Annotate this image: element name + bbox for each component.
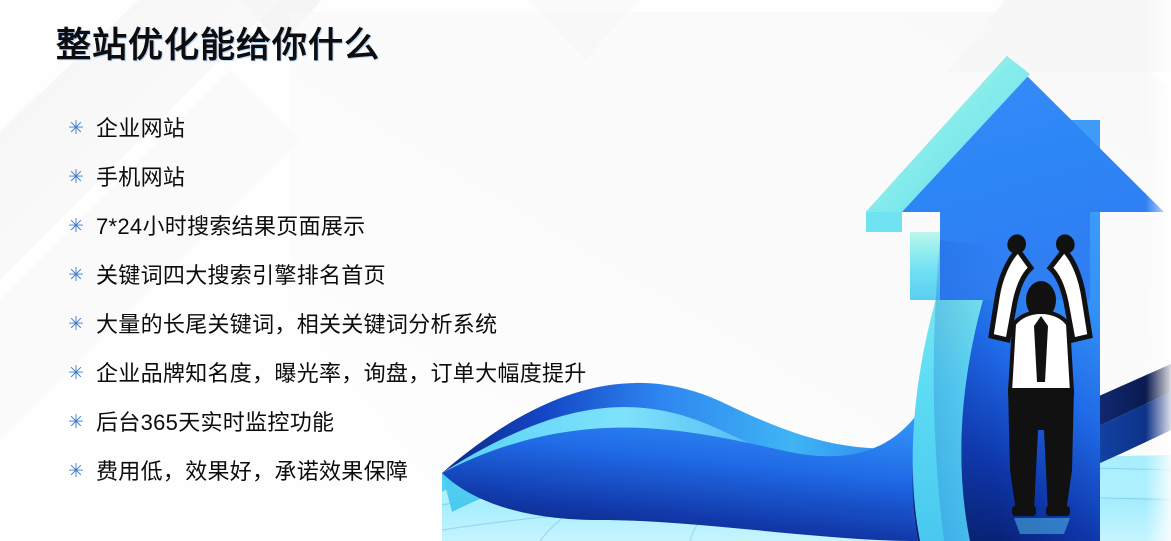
list-item-label: 费用低，效果好，承诺效果保障 — [96, 459, 408, 485]
list-item[interactable]: ✳ 后台365天实时监控功能 — [62, 398, 762, 447]
asterisk-bullet-icon: ✳ — [62, 266, 96, 285]
asterisk-bullet-icon: ✳ — [62, 413, 96, 432]
list-item[interactable]: ✳ 企业网站 — [62, 104, 762, 153]
bullet-list: ✳ 企业网站 ✳ 手机网站 ✳ 7*24小时搜索结果页面展示 ✳ 关键词四大搜索… — [62, 104, 762, 496]
list-item[interactable]: ✳ 7*24小时搜索结果页面展示 — [62, 202, 762, 251]
list-item[interactable]: ✳ 企业品牌知名度，曝光率，询盘，订单大幅度提升 — [62, 349, 762, 398]
asterisk-bullet-icon: ✳ — [62, 315, 96, 334]
list-item-label: 大量的长尾关键词，相关关键词分析系统 — [96, 312, 497, 338]
asterisk-bullet-icon: ✳ — [62, 462, 96, 481]
list-item-label: 手机网站 — [96, 165, 185, 191]
list-item-label: 关键词四大搜索引擎排名首页 — [96, 263, 386, 289]
slide-canvas: 整站优化能给你什么 ✳ 企业网站 ✳ 手机网站 ✳ 7*24小时搜索结果页面展示… — [0, 0, 1171, 541]
list-item[interactable]: ✳ 手机网站 — [62, 153, 762, 202]
asterisk-bullet-icon: ✳ — [62, 119, 96, 138]
list-item[interactable]: ✳ 大量的长尾关键词，相关关键词分析系统 — [62, 300, 762, 349]
list-item[interactable]: ✳ 费用低，效果好，承诺效果保障 — [62, 447, 762, 496]
page-title: 整站优化能给你什么 — [56, 24, 380, 68]
asterisk-bullet-icon: ✳ — [62, 168, 96, 187]
list-item-label: 企业品牌知名度，曝光率，询盘，订单大幅度提升 — [96, 361, 587, 387]
asterisk-bullet-icon: ✳ — [62, 217, 96, 236]
asterisk-bullet-icon: ✳ — [62, 364, 96, 383]
list-item[interactable]: ✳ 关键词四大搜索引擎排名首页 — [62, 251, 762, 300]
list-item-label: 后台365天实时监控功能 — [96, 410, 334, 436]
list-item-label: 企业网站 — [96, 116, 185, 142]
list-item-label: 7*24小时搜索结果页面展示 — [96, 214, 365, 240]
